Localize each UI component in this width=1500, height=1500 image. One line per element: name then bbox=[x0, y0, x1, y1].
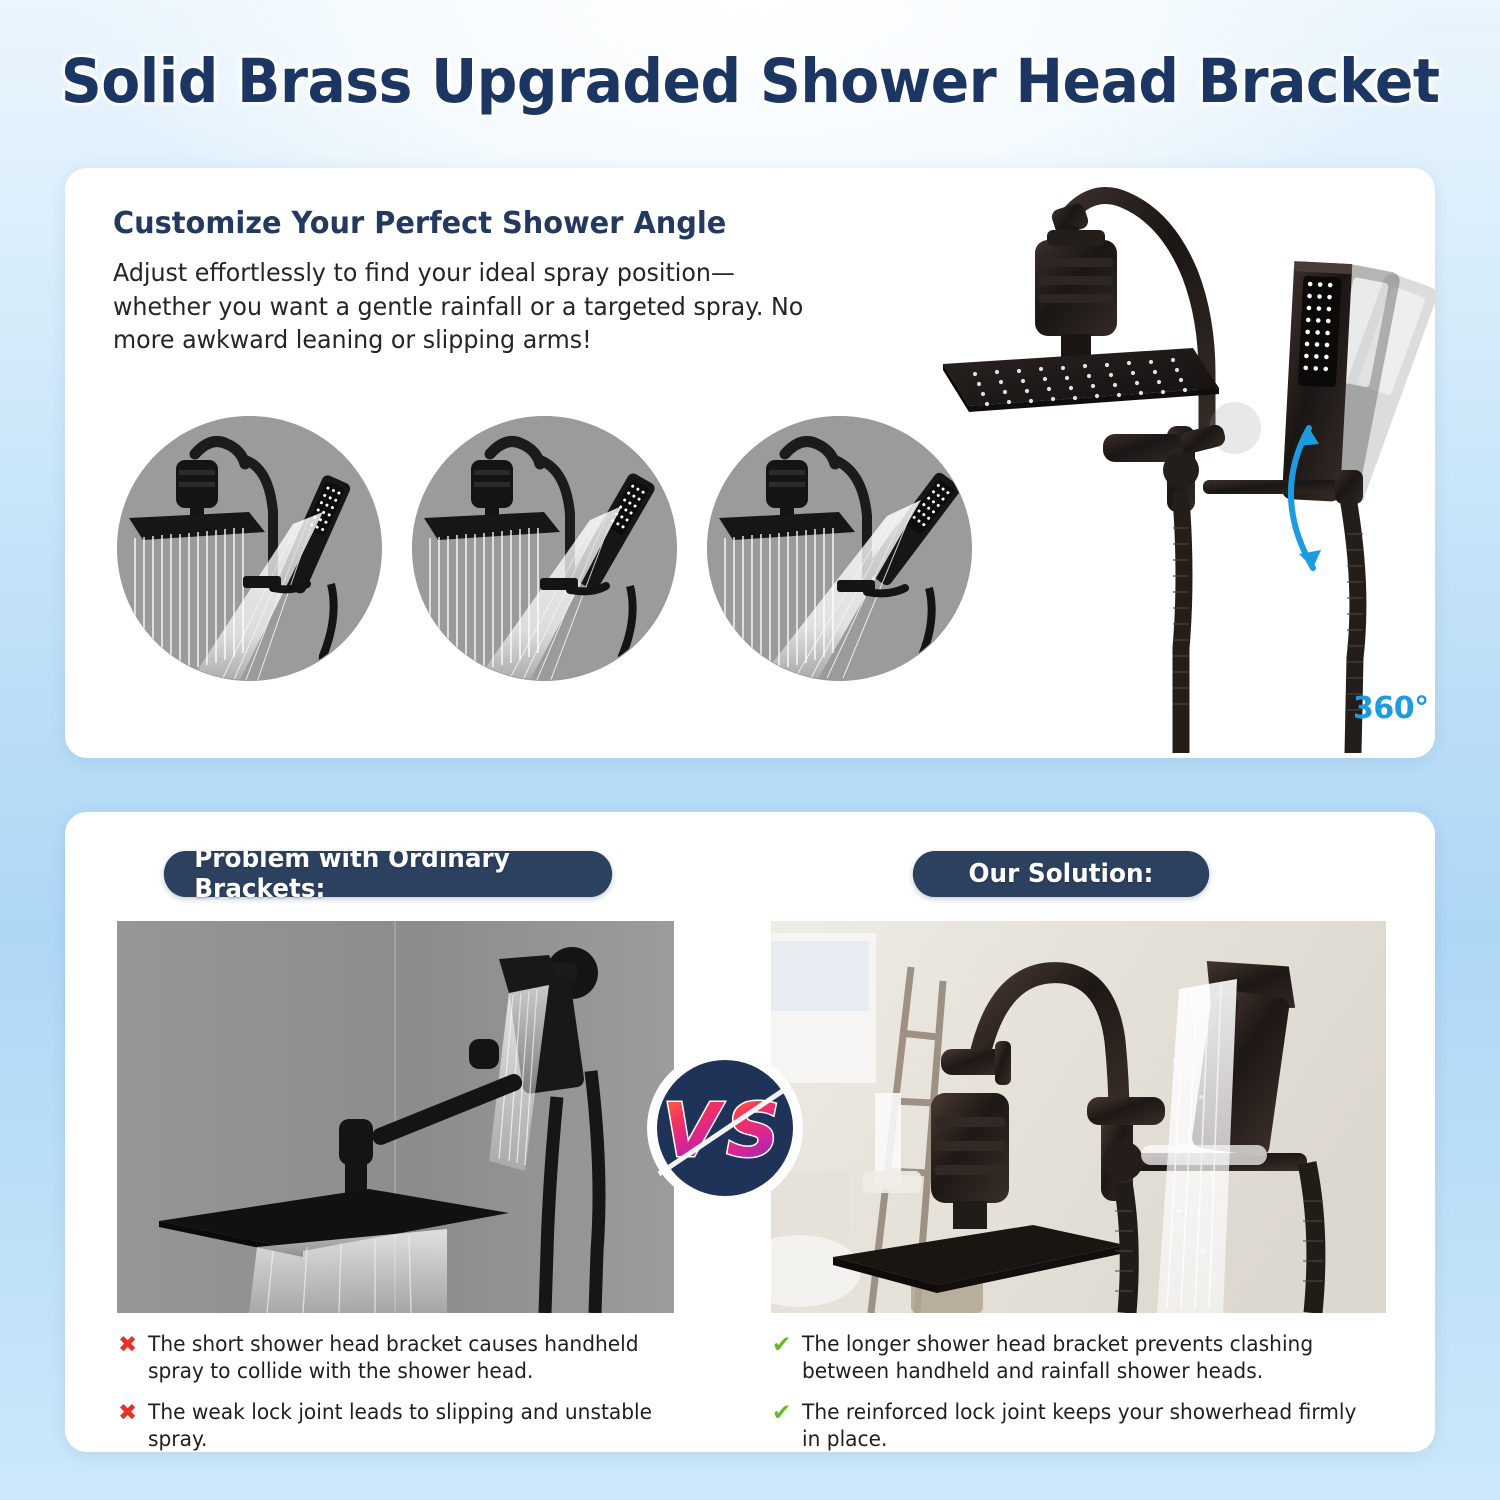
bullet-item: ✔ The reinforced lock joint keeps your s… bbox=[772, 1399, 1400, 1453]
angle-thumbnail-3 bbox=[707, 416, 972, 681]
bullet-text: The reinforced lock joint keeps your sho… bbox=[802, 1399, 1376, 1453]
badge-problem: Problem with Ordinary Brackets: bbox=[164, 851, 612, 897]
bullet-item: ✔ The longer shower head bracket prevent… bbox=[772, 1331, 1400, 1385]
page-title-wrap: Solid Brass Upgraded Shower Head Bracket bbox=[0, 46, 1500, 117]
bullet-text: The longer shower head bracket prevents … bbox=[802, 1331, 1376, 1385]
svg-text:V: V bbox=[662, 1088, 725, 1174]
photo-problem bbox=[117, 921, 674, 1313]
page-title: Solid Brass Upgraded Shower Head Bracket bbox=[61, 46, 1440, 117]
check-icon: ✔ bbox=[772, 1399, 802, 1429]
hero-product-image bbox=[935, 178, 1435, 753]
cross-icon: ✖ bbox=[118, 1399, 148, 1429]
vs-badge: V S bbox=[645, 1048, 805, 1208]
cross-icon: ✖ bbox=[118, 1331, 148, 1361]
feature-card: Customize Your Perfect Shower Angle Adju… bbox=[65, 168, 1435, 758]
bullet-item: ✖ The short shower head bracket causes h… bbox=[118, 1331, 718, 1385]
bullet-text: The weak lock joint leads to slipping an… bbox=[148, 1399, 695, 1453]
bullet-item: ✖ The weak lock joint leads to slipping … bbox=[118, 1399, 718, 1453]
photo-solution bbox=[771, 921, 1386, 1313]
section-body-text: Adjust effortlessly to find your ideal s… bbox=[113, 256, 816, 357]
angle-thumbnail-row bbox=[117, 416, 947, 686]
badge-solution: Our Solution: bbox=[913, 851, 1209, 897]
bullets-problem: ✖ The short shower head bracket causes h… bbox=[118, 1331, 718, 1467]
bullet-text: The short shower head bracket causes han… bbox=[148, 1331, 695, 1385]
rotation-degree-label: 360° bbox=[1353, 691, 1429, 726]
angle-thumbnail-2 bbox=[412, 416, 677, 681]
check-icon: ✔ bbox=[772, 1331, 802, 1361]
bullets-solution: ✔ The longer shower head bracket prevent… bbox=[772, 1331, 1400, 1467]
angle-thumbnail-1 bbox=[117, 416, 382, 681]
section-heading: Customize Your Perfect Shower Angle bbox=[113, 206, 726, 241]
